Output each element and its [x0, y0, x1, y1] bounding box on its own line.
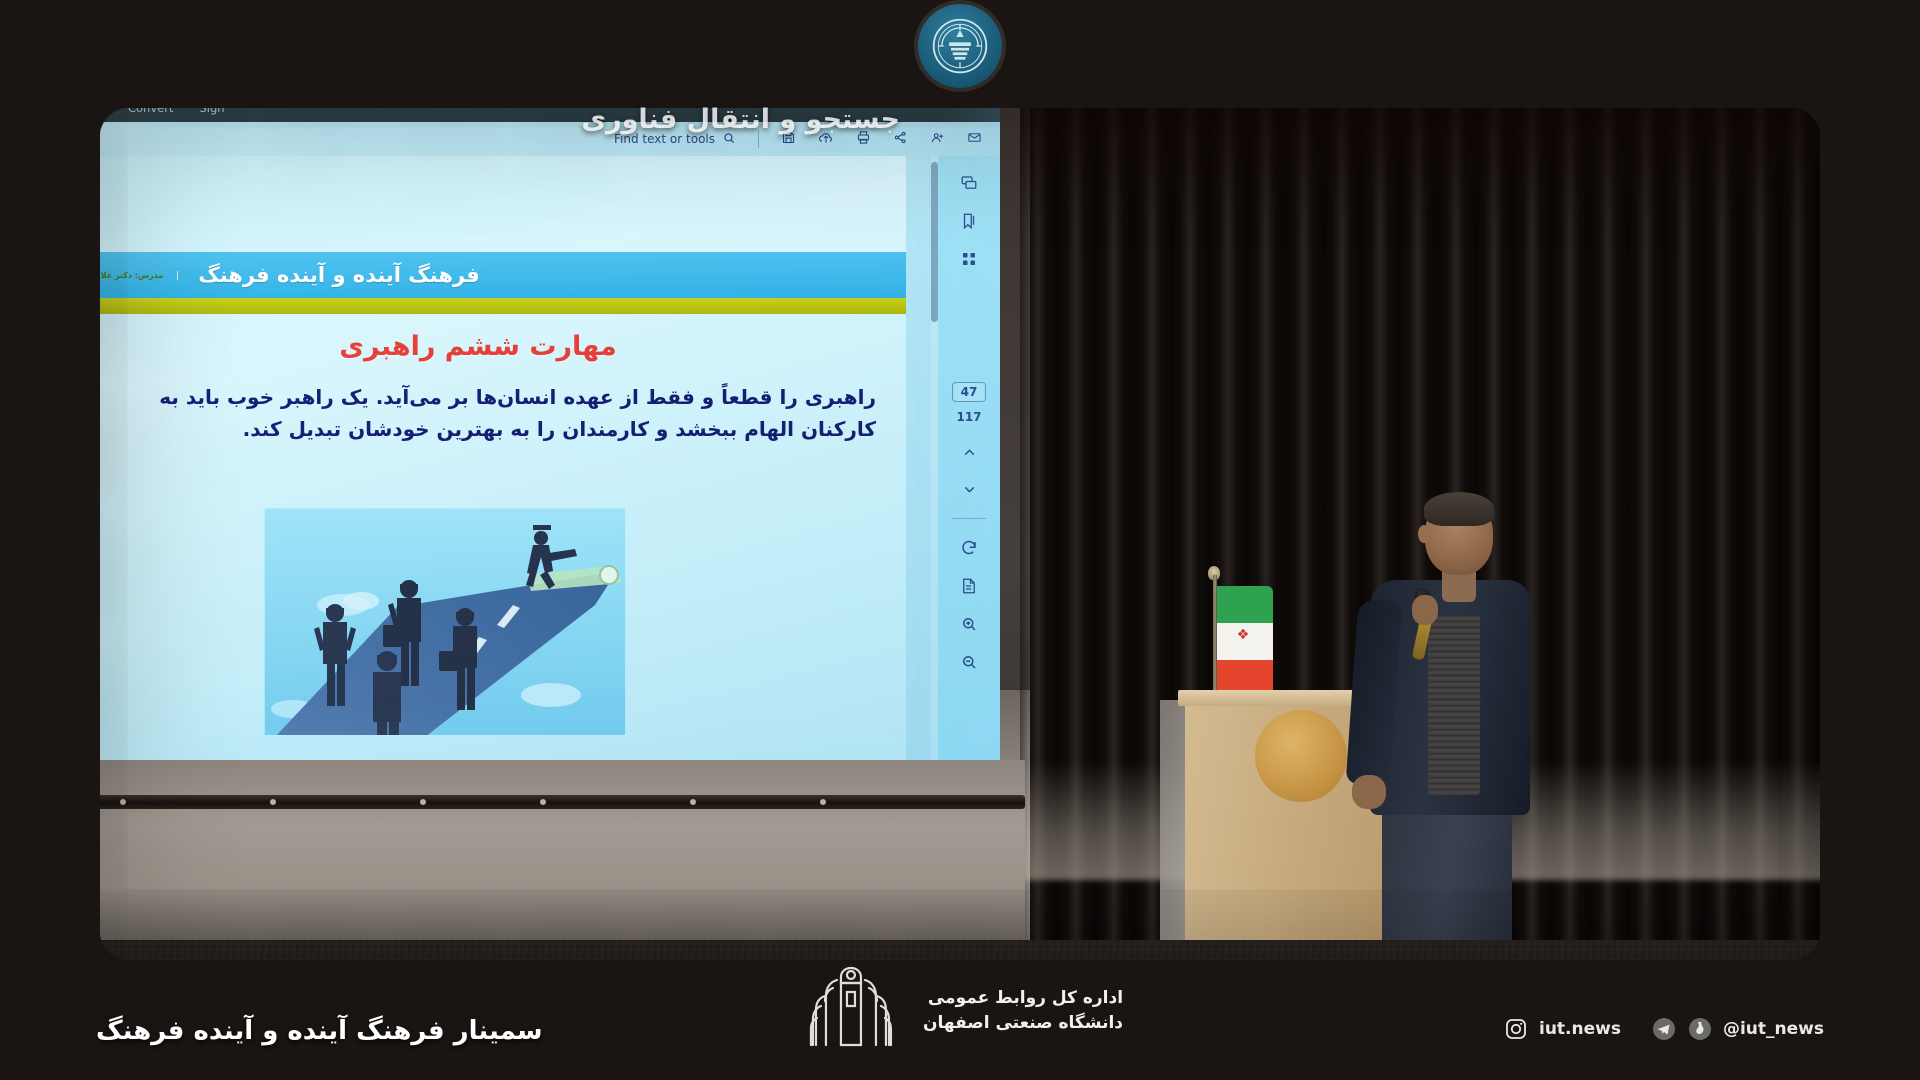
tab-title: آینده فرهنگ.pdf — [245, 69, 325, 83]
current-page-field[interactable]: 47 — [952, 382, 987, 402]
public-relations-monument-logo — [797, 962, 905, 1058]
draw-tool[interactable] — [7, 233, 39, 261]
acrobat-titlebar: Menu آینده فرهنگ.pdf ✕ + Create — [0, 58, 1000, 94]
university-emblem — [1255, 710, 1347, 802]
highlight-tool[interactable] — [7, 273, 39, 301]
plus-icon: + — [359, 70, 368, 83]
menu-all-tools[interactable]: All tools — [8, 101, 54, 115]
chevron-down-icon[interactable] — [961, 481, 978, 498]
checkmark-icon: ✓ — [86, 381, 101, 445]
star-icon[interactable] — [114, 63, 140, 89]
menu-convert[interactable]: Convert — [128, 101, 173, 115]
screen-bottom-rod — [0, 795, 1025, 809]
presenter-shirt — [1428, 615, 1480, 795]
thumbnails-panel-icon[interactable] — [960, 250, 978, 268]
menu-sign[interactable]: Sign — [199, 101, 224, 115]
document-scroll-thumb[interactable] — [931, 162, 938, 322]
presenter-hand — [1352, 775, 1386, 809]
wall-below-screen — [0, 760, 1025, 940]
add-person-icon[interactable] — [930, 130, 945, 148]
university-seal-logo — [918, 4, 1002, 88]
presenter-mic-hand — [1412, 595, 1438, 625]
bookmarks-panel-icon[interactable] — [960, 212, 978, 230]
illustration-svg — [265, 509, 626, 736]
presenter-hair — [1424, 492, 1494, 526]
create-label: Create — [374, 70, 411, 83]
chevron-up-icon[interactable] — [961, 444, 978, 461]
home-icon[interactable] — [74, 63, 100, 89]
podium-side-panel — [1160, 700, 1188, 968]
iran-flag-emblem: ❖ — [1235, 627, 1251, 643]
text-box-tool[interactable]: A — [7, 313, 39, 341]
mail-icon[interactable] — [967, 130, 982, 148]
rotate-icon[interactable] — [960, 539, 978, 557]
slide-bullet: راهبری را قطعاً و فقط از عهده انسان‌ها ب… — [86, 381, 876, 445]
acrobat-left-toolbar: A — [0, 122, 46, 778]
social-links: iut.news @iut_news — [1503, 1016, 1824, 1042]
hamburger-icon — [10, 72, 22, 81]
menu-button[interactable]: Menu — [10, 69, 60, 83]
public-relations-block: اداره کل روابط عمومی دانشگاه صنعتی اصفها… — [797, 962, 1123, 1058]
acrobat-document-view: Find text or tools — [46, 122, 1000, 778]
event-caption: سمینار فرهنگ آینده و آینده فرهنگ — [96, 1016, 543, 1046]
pr-line-1: اداره کل روابط عمومی — [923, 988, 1123, 1008]
watermark-wordmark: جستجو و انتقال فناوری — [581, 104, 900, 135]
comment-tool[interactable] — [7, 193, 39, 221]
leadership-road-illustration — [264, 508, 626, 736]
menu-label: Menu — [27, 69, 60, 83]
fit-page-icon[interactable] — [960, 577, 978, 595]
slide-heading: مهارت ششم راهبری — [78, 331, 878, 362]
auditorium-photo: Menu آینده فرهنگ.pdf ✕ + Create — [0, 0, 1920, 1080]
slide-band-subtitle: مدرس: دکتر غلامرضا فجاروند — [46, 271, 178, 280]
tab-close-icon[interactable]: ✕ — [224, 69, 235, 84]
instagram-handle[interactable]: iut.news — [1539, 1019, 1621, 1039]
create-button[interactable]: + Create — [348, 66, 421, 87]
erase-tool[interactable] — [7, 353, 39, 381]
seal-icon — [931, 17, 989, 75]
eitaa-icon[interactable] — [1687, 1016, 1713, 1042]
acrobat-window: Menu آینده فرهنگ.pdf ✕ + Create — [0, 58, 1000, 778]
telegram-icon[interactable] — [1651, 1016, 1677, 1042]
menu-edit[interactable]: Edit — [80, 101, 102, 115]
instagram-icon[interactable] — [1503, 1016, 1529, 1042]
zoom-out-icon[interactable] — [960, 653, 978, 671]
telegram-eitaa-handle[interactable]: @iut_news — [1723, 1019, 1824, 1039]
presenter-ear — [1418, 525, 1430, 543]
total-pages-label: 117 — [956, 410, 981, 424]
comments-panel-icon[interactable] — [960, 174, 978, 192]
document-tab[interactable]: آینده فرهنگ.pdf ✕ — [214, 65, 334, 88]
pdf-slide: فرهنگ آینده و آینده فرهنگ مدرس: دکتر غلا… — [46, 156, 906, 778]
acrobat-right-toolbar: 47 117 — [938, 156, 1000, 778]
slide-accent-rule — [46, 298, 906, 314]
select-tool[interactable] — [7, 153, 39, 181]
rail-divider-2 — [952, 518, 986, 519]
slide-band-title: فرهنگ آینده و آینده فرهنگ — [198, 263, 502, 287]
help-circle-icon[interactable] — [809, 63, 835, 89]
slide-header-band: فرهنگ آینده و آینده فرهنگ مدرس: دکتر غلا… — [46, 252, 906, 298]
svg-text:A: A — [21, 324, 26, 332]
bell-icon[interactable] — [849, 63, 875, 89]
pr-line-2: دانشگاه صنعتی اصفهان — [923, 1013, 1123, 1033]
zoom-in-icon[interactable] — [960, 615, 978, 633]
rail-divider — [10, 136, 36, 137]
screenshot-root: Menu آینده فرهنگ.pdf ✕ + Create — [0, 0, 1920, 1080]
slide-bullet-text: راهبری را قطعاً و فقط از عهده انسان‌ها ب… — [111, 381, 876, 445]
pr-text: اداره کل روابط عمومی دانشگاه صنعتی اصفها… — [923, 988, 1123, 1033]
